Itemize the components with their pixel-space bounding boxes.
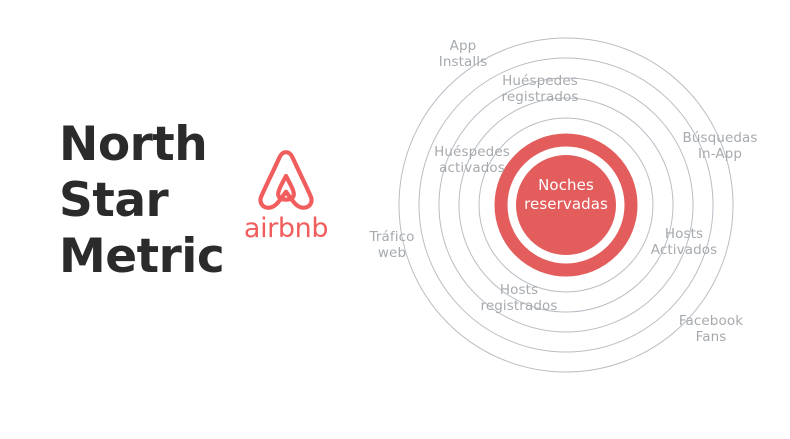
north-star-ring-diagram: Noches reservadas App Installs Huéspedes… — [350, 0, 790, 439]
ring-label-huespedes-activados-line-2: activados — [439, 160, 505, 176]
ring-label-app-installs-line-1: App — [450, 38, 477, 54]
ring-label-hosts-registrados-line-1: Hosts — [500, 282, 538, 298]
page-title: North Star Metric — [59, 117, 249, 285]
airbnb-wordmark: airbnb — [236, 214, 336, 244]
slide-canvas: North Star Metric airbnb No — [0, 0, 790, 439]
ring-label-facebook-fans-line-1: Facebook — [679, 313, 743, 329]
page-title-line-1: North — [59, 117, 249, 173]
ring-label-busquedas-in-app: Búsquedas In-App — [660, 130, 780, 162]
airbnb-logo: airbnb — [236, 148, 336, 244]
ring-label-trafico-web-line-1: Tráfico — [370, 229, 415, 245]
ring-label-huespedes-activados-line-1: Huéspedes — [434, 144, 510, 160]
ring-label-huespedes-registrados-line-1: Huéspedes — [502, 73, 578, 89]
ring-label-app-installs-line-2: Installs — [439, 54, 487, 70]
airbnb-belo-icon — [255, 148, 317, 212]
ring-label-hosts-registrados: Hosts registrados — [454, 282, 584, 314]
ring-label-app-installs: App Installs — [418, 38, 508, 70]
ring-label-huespedes-registrados-line-2: registrados — [502, 89, 579, 105]
ring-label-busquedas-in-app-line-2: In-App — [698, 146, 742, 162]
ring-label-huespedes-activados: Huéspedes activados — [412, 144, 532, 176]
ring-label-hosts-activados-line-2: Activados — [651, 242, 718, 258]
ring-label-facebook-fans: Facebook Fans — [652, 313, 770, 345]
ring-label-trafico-web-line-2: web — [378, 245, 406, 261]
concentric-rings-graphic — [350, 0, 790, 439]
ring-label-trafico-web: Tráfico web — [350, 229, 434, 261]
ring-label-busquedas-in-app-line-1: Búsquedas — [682, 130, 757, 146]
ring-label-hosts-activados: Hosts Activados — [624, 226, 744, 258]
ring-label-hosts-registrados-line-2: registrados — [481, 298, 558, 314]
page-title-line-2: Star — [59, 173, 249, 229]
ring-label-hosts-activados-line-1: Hosts — [665, 226, 703, 242]
page-title-line-3: Metric — [59, 229, 249, 285]
ring-label-facebook-fans-line-2: Fans — [696, 329, 727, 345]
ring-label-huespedes-registrados: Huéspedes registrados — [475, 73, 605, 105]
headline-block: North Star Metric airbnb — [0, 0, 350, 439]
